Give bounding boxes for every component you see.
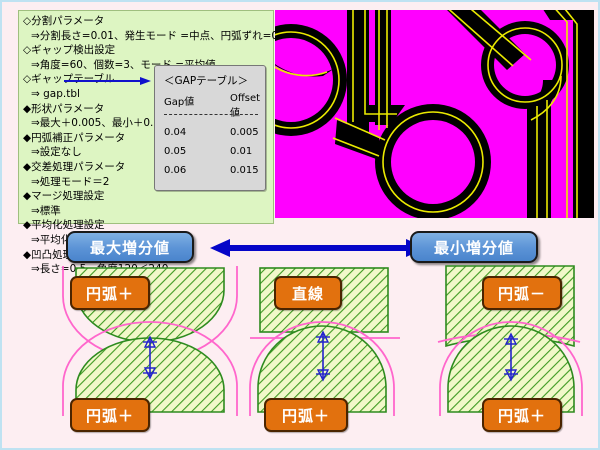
screenshot-root: ◇分割パラメータ ⇒分割長さ=0.01、発生モード =中点、円弧ずれ=0.001… [0, 0, 600, 450]
gap-table-pointer-arrow-icon [64, 77, 152, 86]
gap-value: 0.06 [164, 165, 186, 176]
gap-table-header: Gap値 Offset値 [164, 93, 194, 108]
param-line: ◇分割パラメータ [23, 14, 271, 29]
offset-value: 0.015 [230, 161, 259, 180]
arrow-shaft [64, 80, 142, 82]
gap-table-title: ＜GAPテーブル＞ [164, 73, 248, 88]
offset-value: 0.01 [230, 142, 252, 161]
shape-tag-middle-bottom: 円弧＋ [264, 398, 348, 432]
arrow-head [140, 77, 151, 85]
shape-tag-left-bottom: 円弧＋ [70, 398, 150, 432]
gap-table-divider [164, 114, 258, 115]
pcb-preview-image [275, 10, 594, 218]
table-row: 0.06 0.015 [164, 161, 186, 180]
gap-table-rows: 0.04 0.005 0.05 0.01 0.06 0.015 [164, 123, 186, 180]
gap-column-header: Gap値 [164, 97, 194, 108]
gap-table-box: ＜GAPテーブル＞ Gap値 Offset値 0.04 0.005 0.05 0… [154, 65, 266, 191]
shape-tag-middle-top: 直線 [274, 276, 342, 310]
param-line: ⇒標準 [23, 204, 271, 219]
table-row: 0.04 0.005 [164, 123, 186, 142]
param-line: ⇒分割長さ=0.01、発生モード =中点、円弧ずれ=0.001 [23, 29, 271, 44]
offset-value: 0.005 [230, 123, 259, 142]
shape-tag-right-bottom: 円弧＋ [482, 398, 562, 432]
param-line: ◇ギャップ検出設定 [23, 43, 271, 58]
shape-tag-right-top: 円弧－ [482, 276, 562, 310]
gap-value: 0.05 [164, 146, 186, 157]
table-row: 0.05 0.01 [164, 142, 186, 161]
gap-value: 0.04 [164, 127, 186, 138]
offset-column-header: Offset値 [230, 93, 260, 119]
param-line: ◆マージ処理設定 [23, 189, 271, 204]
shape-tag-left-top: 円弧＋ [70, 276, 150, 310]
